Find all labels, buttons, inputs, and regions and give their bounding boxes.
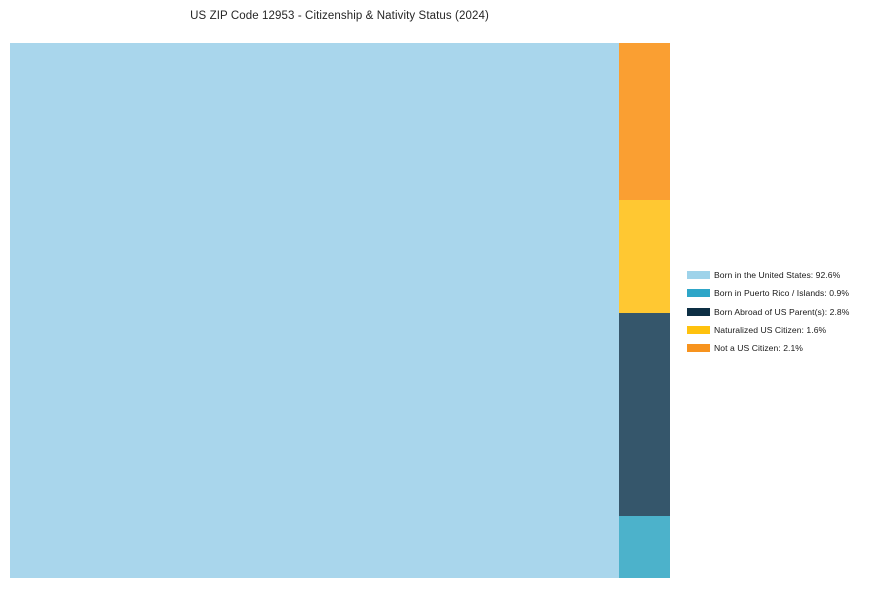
- legend-item-born-abroad-of-us-parents[interactable]: Born Abroad of US Parent(s): 2.8%: [687, 303, 883, 321]
- treemap-tile-born-in-the-united-states[interactable]: Born in the United States: 92.6%: [10, 43, 619, 578]
- legend-item-born-in-the-united-states[interactable]: Born in the United States: 92.6%: [687, 266, 883, 284]
- legend-item-label: Born Abroad of US Parent(s): 2.8%: [714, 307, 883, 317]
- treemap-tile-not-a-us-citizen[interactable]: Not a US Citizen: 2.1%: [619, 43, 670, 200]
- legend-item-label: Born in the United States: 92.6%: [714, 270, 883, 280]
- legend-item-not-a-us-citizen[interactable]: Not a US Citizen: 2.1%: [687, 339, 883, 357]
- legend-item-born-in-puerto-rico-islands[interactable]: Born in Puerto Rico / Islands: 0.9%: [687, 284, 883, 302]
- legend-swatch-icon: [687, 271, 710, 279]
- legend-swatch-icon: [687, 289, 710, 297]
- chart-legend: Born in the United States: 92.6% Born in…: [687, 266, 883, 357]
- legend-item-label: Naturalized US Citizen: 1.6%: [714, 325, 883, 335]
- treemap-tile-born-abroad-of-us-parents[interactable]: Born Abroad of US Parent(s): 2.8%: [619, 313, 670, 516]
- legend-swatch-icon: [687, 308, 710, 316]
- plot-area: Born in the United States: 92.6% Not a U…: [10, 43, 670, 578]
- treemap-figure: US ZIP Code 12953 - Citizenship & Nativi…: [0, 0, 889, 590]
- legend-swatch-icon: [687, 326, 710, 334]
- mosaic-column-primary: Born in the United States: 92.6%: [10, 43, 619, 578]
- mosaic-column-secondary: Not a US Citizen: 2.1% Naturalized US Ci…: [619, 43, 670, 578]
- legend-swatch-icon: [687, 344, 710, 352]
- legend-item-label: Not a US Citizen: 2.1%: [714, 343, 883, 353]
- chart-title: US ZIP Code 12953 - Citizenship & Nativi…: [0, 9, 679, 23]
- legend-item-label: Born in Puerto Rico / Islands: 0.9%: [714, 288, 883, 298]
- legend-item-naturalized-us-citizen[interactable]: Naturalized US Citizen: 1.6%: [687, 321, 883, 339]
- treemap-tile-born-in-puerto-rico-islands[interactable]: Born in Puerto Rico / Islands: 0.9%: [619, 516, 670, 578]
- treemap-tile-naturalized-us-citizen[interactable]: Naturalized US Citizen: 1.6%: [619, 200, 670, 313]
